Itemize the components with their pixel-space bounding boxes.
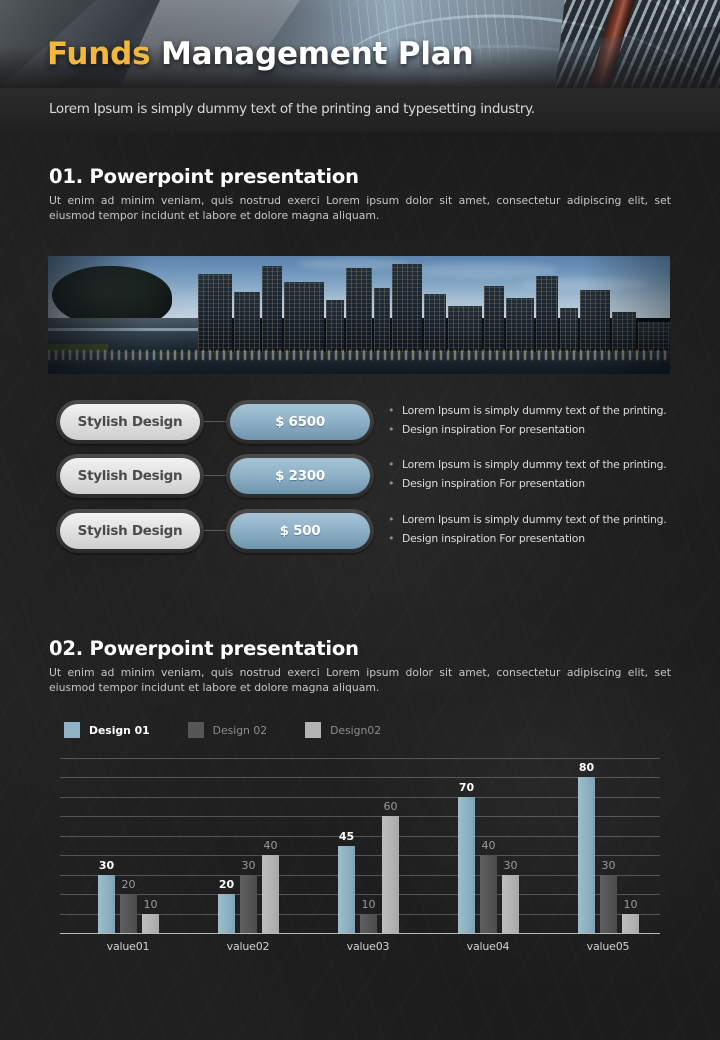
section-01-body: Ut enim ad minim veniam, quis nostrud ex… <box>49 194 671 223</box>
bar-value05-series2[interactable]: 30 <box>600 875 617 933</box>
list-item: •Lorem Ipsum is simply dummy text of the… <box>388 512 688 527</box>
bar-chart: 302010203040451060704030803010 <box>60 758 660 934</box>
row-connector <box>204 530 228 531</box>
bar-value02-series3[interactable]: 40 <box>262 855 279 933</box>
bar-value-label: 30 <box>602 859 616 872</box>
bar-value-label: 10 <box>144 898 158 911</box>
plan-label-text: Stylish Design <box>60 404 200 440</box>
plan-label-text: Stylish Design <box>60 513 200 549</box>
plan-amount-text: $ 2300 <box>230 458 370 494</box>
bar-value-label: 10 <box>624 898 638 911</box>
x-tick-label: value05 <box>587 940 630 953</box>
plan-row: Stylish Design $ 500 •Lorem Ipsum is sim… <box>48 509 678 553</box>
row-connector <box>204 475 228 476</box>
list-item: •Design inspiration For presentation <box>388 531 688 546</box>
chart-x-tick-labels: value01value02value03value04value05 <box>60 940 660 958</box>
bar-value03-series2[interactable]: 10 <box>360 914 377 933</box>
bar-value-label: 60 <box>384 800 398 813</box>
bar-group: 803010 <box>578 758 639 933</box>
list-item: •Lorem Ipsum is simply dummy text of the… <box>388 403 688 418</box>
chart-x-axis <box>60 933 660 934</box>
plan-label-pill[interactable]: Stylish Design <box>56 509 204 553</box>
legend-item-2[interactable]: Design 02 <box>188 722 267 738</box>
bar-value-label: 30 <box>504 859 518 872</box>
bullet-dot-icon: • <box>388 531 402 546</box>
row-connector <box>204 421 228 422</box>
legend-swatch-icon <box>64 722 80 738</box>
bullet-text: Design inspiration For presentation <box>402 422 585 437</box>
plan-row: Stylish Design $ 6500 •Lorem Ipsum is si… <box>48 400 678 444</box>
bar-value-label: 80 <box>579 761 594 774</box>
list-item: •Design inspiration For presentation <box>388 476 688 491</box>
legend-label: Design 02 <box>213 724 267 737</box>
subtitle-band: Lorem Ipsum is simply dummy text of the … <box>0 88 720 132</box>
bar-group: 302010 <box>98 758 159 933</box>
legend-label: Design 01 <box>89 724 150 737</box>
bar-value05-series3[interactable]: 10 <box>622 914 639 933</box>
plan-bullets: •Lorem Ipsum is simply dummy text of the… <box>388 512 688 550</box>
bar-value-label: 45 <box>339 830 354 843</box>
bullet-dot-icon: • <box>388 476 402 491</box>
section-01-title: 01. Powerpoint presentation <box>49 165 359 188</box>
bullet-text: Lorem Ipsum is simply dummy text of the … <box>402 403 667 418</box>
bar-group: 203040 <box>218 758 279 933</box>
plan-amount-pill[interactable]: $ 6500 <box>226 400 374 444</box>
bar-value01-series1[interactable]: 30 <box>98 875 115 933</box>
bar-value05-series1[interactable]: 80 <box>578 777 595 933</box>
bar-value-label: 20 <box>219 878 234 891</box>
bar-value03-series1[interactable]: 45 <box>338 846 355 934</box>
bar-value01-series2[interactable]: 20 <box>120 894 137 933</box>
x-tick-label: value01 <box>107 940 150 953</box>
bar-value04-series1[interactable]: 70 <box>458 797 475 933</box>
section-02-title: 02. Powerpoint presentation <box>49 637 359 660</box>
legend-label: Design02 <box>330 724 381 737</box>
section-02-body: Ut enim ad minim veniam, quis nostrud ex… <box>49 666 671 695</box>
plan-label-text: Stylish Design <box>60 458 200 494</box>
bar-group: 451060 <box>338 758 399 933</box>
bar-value-label: 70 <box>459 781 474 794</box>
plan-amount-pill[interactable]: $ 500 <box>226 509 374 553</box>
x-tick-label: value04 <box>467 940 510 953</box>
plan-amount-pill[interactable]: $ 2300 <box>226 454 374 498</box>
bar-group: 704030 <box>458 758 519 933</box>
page-title: Funds Management Plan <box>47 36 473 72</box>
bar-value04-series2[interactable]: 40 <box>480 855 497 933</box>
page-title-accent: Funds <box>47 36 150 72</box>
city-skyline-image <box>48 256 670 374</box>
x-tick-label: value03 <box>347 940 390 953</box>
bar-value01-series3[interactable]: 10 <box>142 914 159 933</box>
bullet-text: Lorem Ipsum is simply dummy text of the … <box>402 512 667 527</box>
legend-swatch-icon <box>305 722 321 738</box>
bar-value04-series3[interactable]: 30 <box>502 875 519 933</box>
legend-item-1[interactable]: Design 01 <box>64 722 150 738</box>
bar-value-label: 30 <box>99 859 114 872</box>
bar-value03-series3[interactable]: 60 <box>382 816 399 933</box>
bar-value-label: 30 <box>242 859 256 872</box>
plan-amount-text: $ 500 <box>230 513 370 549</box>
x-tick-label: value02 <box>227 940 270 953</box>
bar-value-label: 40 <box>264 839 278 852</box>
bar-value-label: 40 <box>482 839 496 852</box>
legend-item-3[interactable]: Design02 <box>305 722 381 738</box>
page-title-rest: Management Plan <box>161 36 473 72</box>
list-item: •Design inspiration For presentation <box>388 422 688 437</box>
subtitle-text: Lorem Ipsum is simply dummy text of the … <box>49 101 535 117</box>
bullet-text: Design inspiration For presentation <box>402 531 585 546</box>
chart-legend: Design 01Design 02Design02 <box>64 722 419 738</box>
bar-value-label: 20 <box>122 878 136 891</box>
plan-label-pill[interactable]: Stylish Design <box>56 454 204 498</box>
bar-value02-series2[interactable]: 30 <box>240 875 257 933</box>
bar-value02-series1[interactable]: 20 <box>218 894 235 933</box>
bullet-dot-icon: • <box>388 457 402 472</box>
bullet-dot-icon: • <box>388 422 402 437</box>
bullet-dot-icon: • <box>388 512 402 527</box>
plan-label-pill[interactable]: Stylish Design <box>56 400 204 444</box>
bullet-dot-icon: • <box>388 403 402 418</box>
bullet-text: Design inspiration For presentation <box>402 476 585 491</box>
plan-bullets: •Lorem Ipsum is simply dummy text of the… <box>388 403 688 441</box>
bullet-text: Lorem Ipsum is simply dummy text of the … <box>402 457 667 472</box>
header-banner: Funds Management Plan <box>0 0 720 88</box>
plan-amount-text: $ 6500 <box>230 404 370 440</box>
plan-row: Stylish Design $ 2300 •Lorem Ipsum is si… <box>48 454 678 498</box>
legend-swatch-icon <box>188 722 204 738</box>
bar-value-label: 10 <box>362 898 376 911</box>
plan-bullets: •Lorem Ipsum is simply dummy text of the… <box>388 457 688 495</box>
image-vignette <box>48 256 670 374</box>
list-item: •Lorem Ipsum is simply dummy text of the… <box>388 457 688 472</box>
slide-page: Funds Management Plan Lorem Ipsum is sim… <box>0 0 720 1040</box>
